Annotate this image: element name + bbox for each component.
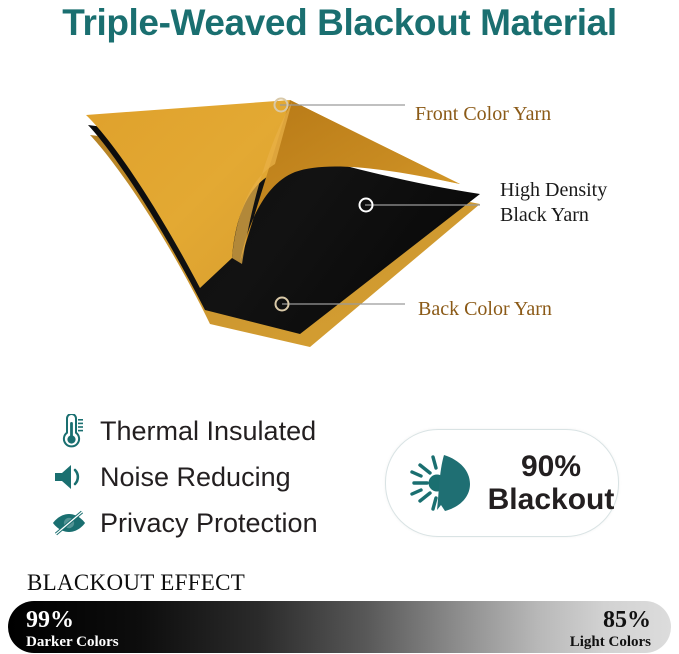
label-high-density-black-yarn: High Density Black Yarn [500,178,607,228]
light-colors-percent: 85% [570,608,651,632]
blackout-badge: 90% Blackout [385,429,619,537]
blackout-effect-left: 99% Darker Colors [26,608,119,652]
product-infographic: Triple-Weaved Blackout Material [0,0,679,654]
blackout-word: Blackout [484,483,618,516]
blackout-effect-right: 85% Light Colors [570,608,651,652]
label-front-color-yarn: Front Color Yarn [415,103,551,126]
blackout-percent: 90% [484,450,618,483]
label-black-line2: Black Yarn [500,203,607,228]
feature-label-privacy-protection: Privacy Protection [100,508,318,539]
speaker-icon [48,457,90,497]
feature-label-thermal-insulated: Thermal Insulated [100,416,316,447]
sun-behind-curtain-icon [404,450,478,516]
feature-list: Thermal Insulated Noise Reducing Pri [48,408,358,546]
feature-item-noise-reducing: Noise Reducing [48,454,358,500]
page-title: Triple-Weaved Blackout Material [0,2,679,44]
light-colors-label: Light Colors [570,633,651,652]
feature-item-privacy-protection: Privacy Protection [48,500,358,546]
feature-item-thermal-insulated: Thermal Insulated [48,408,358,454]
thermometer-icon [48,411,90,451]
feature-label-noise-reducing: Noise Reducing [100,462,291,493]
blackout-effect-gradient-bar: 99% Darker Colors 85% Light Colors [8,601,671,653]
label-black-line1: High Density [500,178,607,203]
label-back-color-yarn: Back Color Yarn [418,298,552,321]
blackout-badge-text: 90% Blackout [484,450,618,516]
darker-colors-percent: 99% [26,608,119,632]
eye-slash-icon [48,503,90,543]
darker-colors-label: Darker Colors [26,633,119,652]
blackout-effect-heading: BLACKOUT EFFECT [27,570,245,596]
